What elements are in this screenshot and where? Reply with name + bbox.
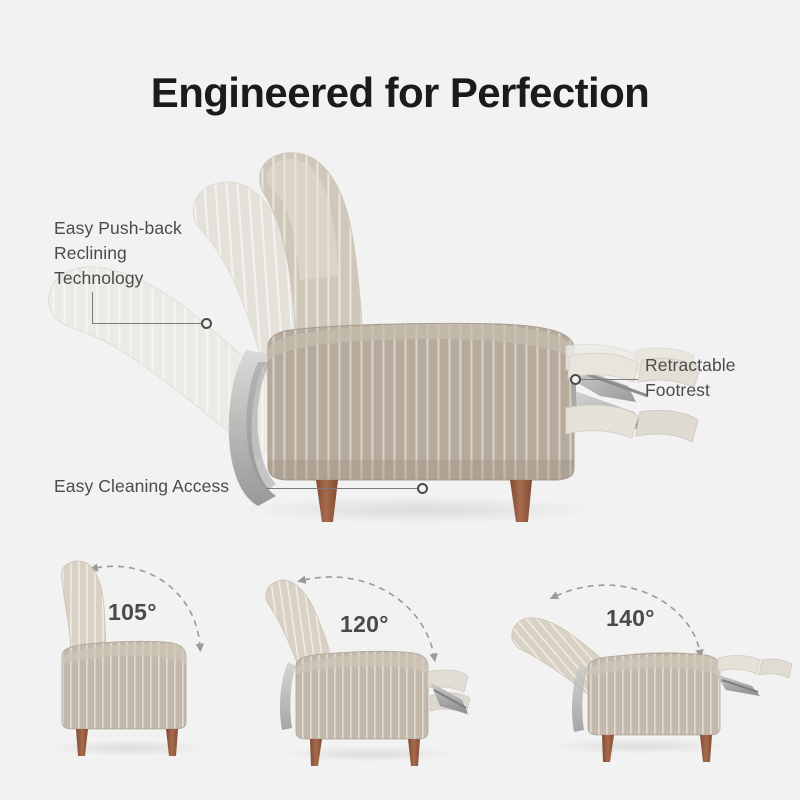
chair-body bbox=[268, 323, 574, 480]
callout-reclining-technology: Easy Push-back Reclining Technology bbox=[54, 216, 182, 291]
leader-line-cleaning bbox=[266, 488, 421, 489]
callout-retractable-footrest: Retractable Footrest bbox=[645, 353, 736, 403]
floor-shadow bbox=[240, 496, 600, 524]
leader-line-recline-vertical bbox=[92, 292, 93, 324]
recline-chair-140: 140° bbox=[505, 585, 792, 762]
marker-dot-cleaning bbox=[417, 483, 428, 494]
leader-line-footrest bbox=[580, 379, 638, 380]
angle-label-120: 120° bbox=[340, 611, 389, 637]
footrest-120 bbox=[428, 670, 470, 714]
marker-dot-recline bbox=[201, 318, 212, 329]
page-title: Engineered for Perfection bbox=[0, 70, 800, 116]
recline-positions-svg: 105° 120° bbox=[0, 540, 800, 800]
recline-chair-120: 120° bbox=[264, 574, 470, 766]
footrest-140 bbox=[716, 656, 792, 696]
infographic-root: Engineered for Perfection bbox=[0, 0, 800, 800]
recline-chair-105: 105° bbox=[50, 561, 210, 756]
angle-label-105: 105° bbox=[108, 599, 157, 625]
recline-positions-row: 105° 120° bbox=[0, 540, 800, 800]
marker-dot-footrest bbox=[570, 374, 581, 385]
leader-line-recline-horizontal bbox=[92, 323, 206, 324]
angle-label-140: 140° bbox=[606, 605, 655, 631]
callout-easy-cleaning-access: Easy Cleaning Access bbox=[54, 474, 229, 499]
